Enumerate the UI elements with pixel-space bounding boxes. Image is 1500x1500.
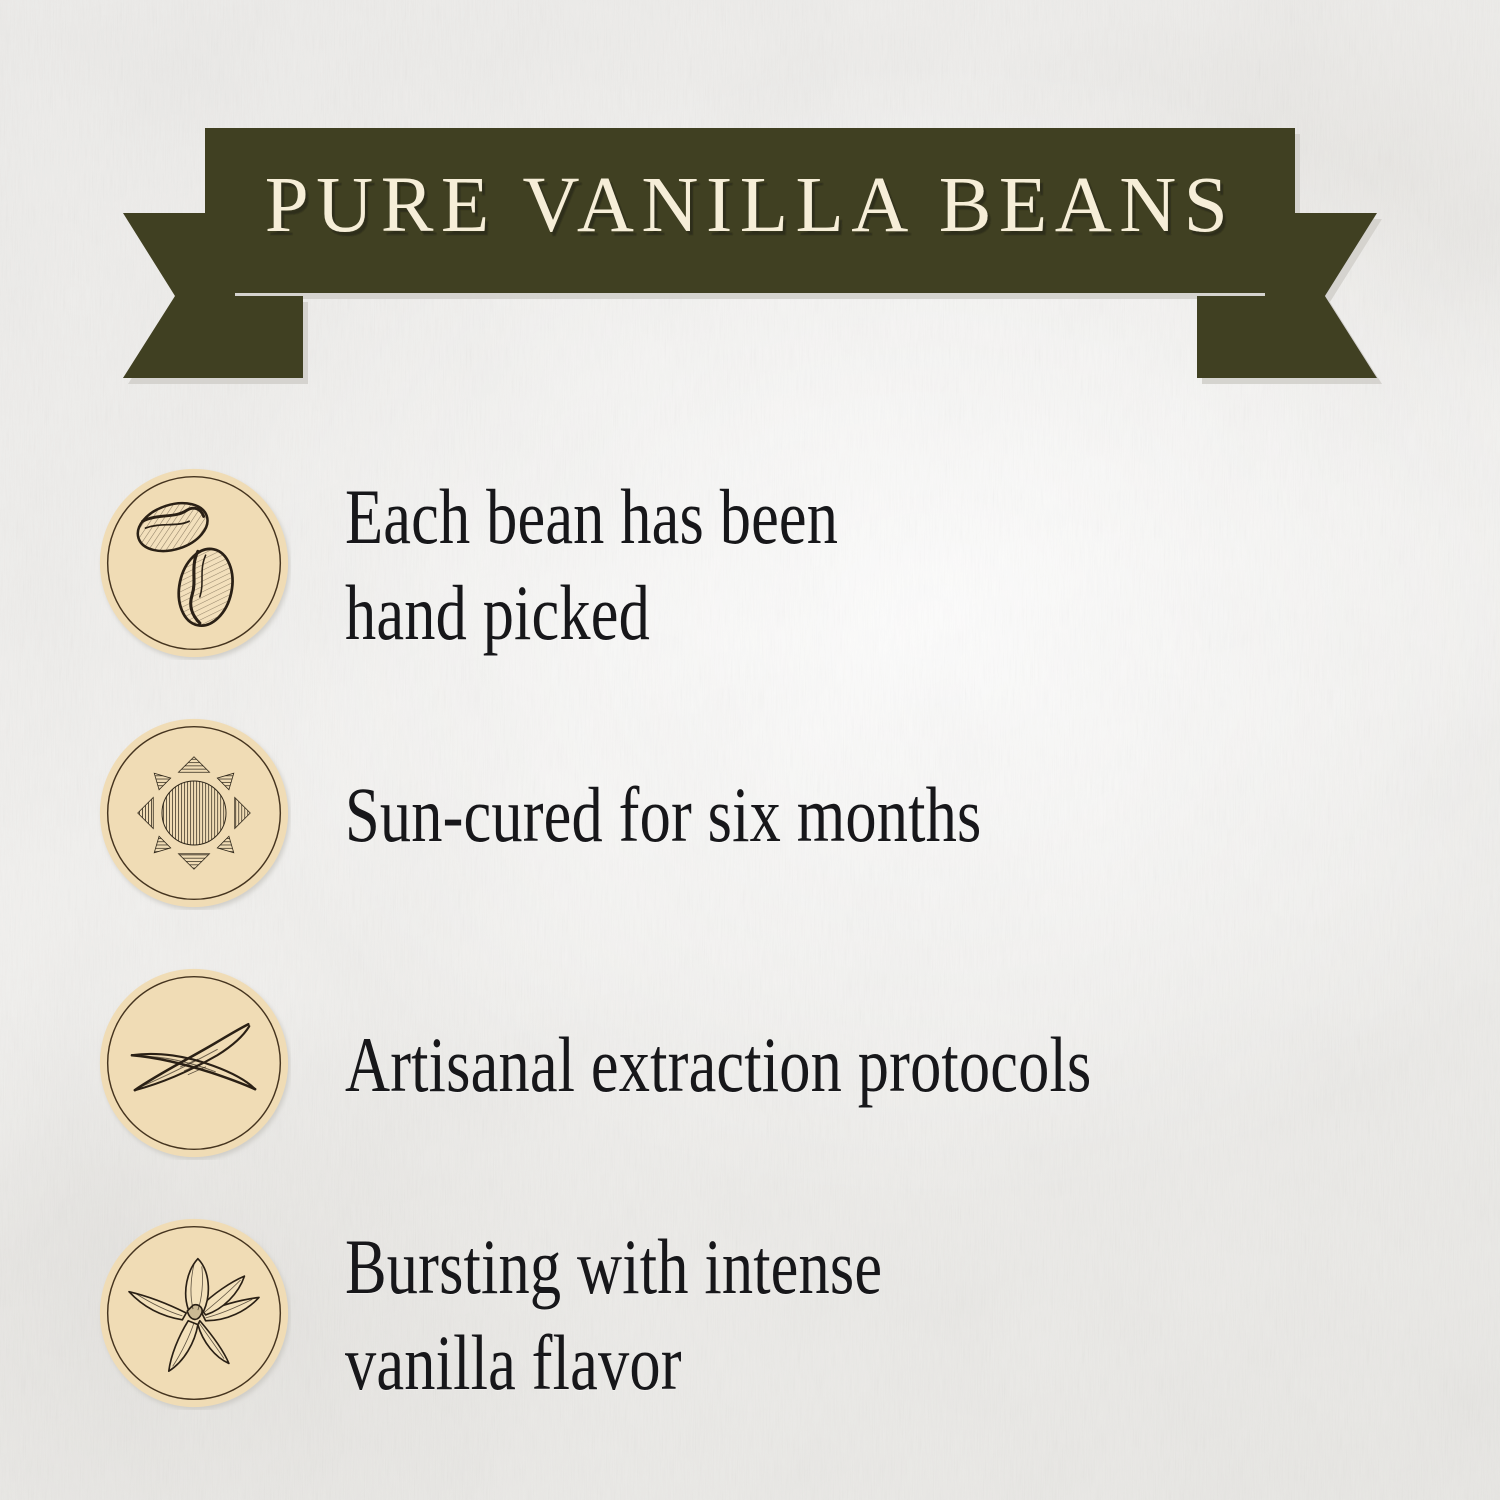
- infographic-canvas: PURE VANILLA BEANS: [0, 0, 1500, 1500]
- feature-list: Each bean has been hand picked: [0, 440, 1500, 1440]
- feature-label: Each bean has been hand picked: [345, 440, 1237, 690]
- feature-label: Artisanal extraction protocols: [345, 940, 1237, 1190]
- banner-ribbon: PURE VANILLA BEANS: [0, 0, 1500, 400]
- feature-row: Sun-cured for six months: [0, 690, 1500, 940]
- feature-label: Bursting with intense vanilla flavor: [345, 1190, 1237, 1440]
- banner-title: PURE VANILLA BEANS: [265, 162, 1235, 249]
- feature-row: Artisanal extraction protocols: [0, 940, 1500, 1190]
- feature-row: Bursting with intense vanilla flavor: [0, 1190, 1500, 1440]
- badge-vanilla-flower: [97, 1216, 291, 1410]
- feature-label: Sun-cured for six months: [345, 690, 1237, 940]
- badge-disc: [100, 969, 288, 1157]
- badge-sun: [97, 716, 291, 910]
- badge-vanilla-pods: [97, 966, 291, 1160]
- feature-row: Each bean has been hand picked: [0, 440, 1500, 690]
- badge-vanilla-beans: [97, 466, 291, 660]
